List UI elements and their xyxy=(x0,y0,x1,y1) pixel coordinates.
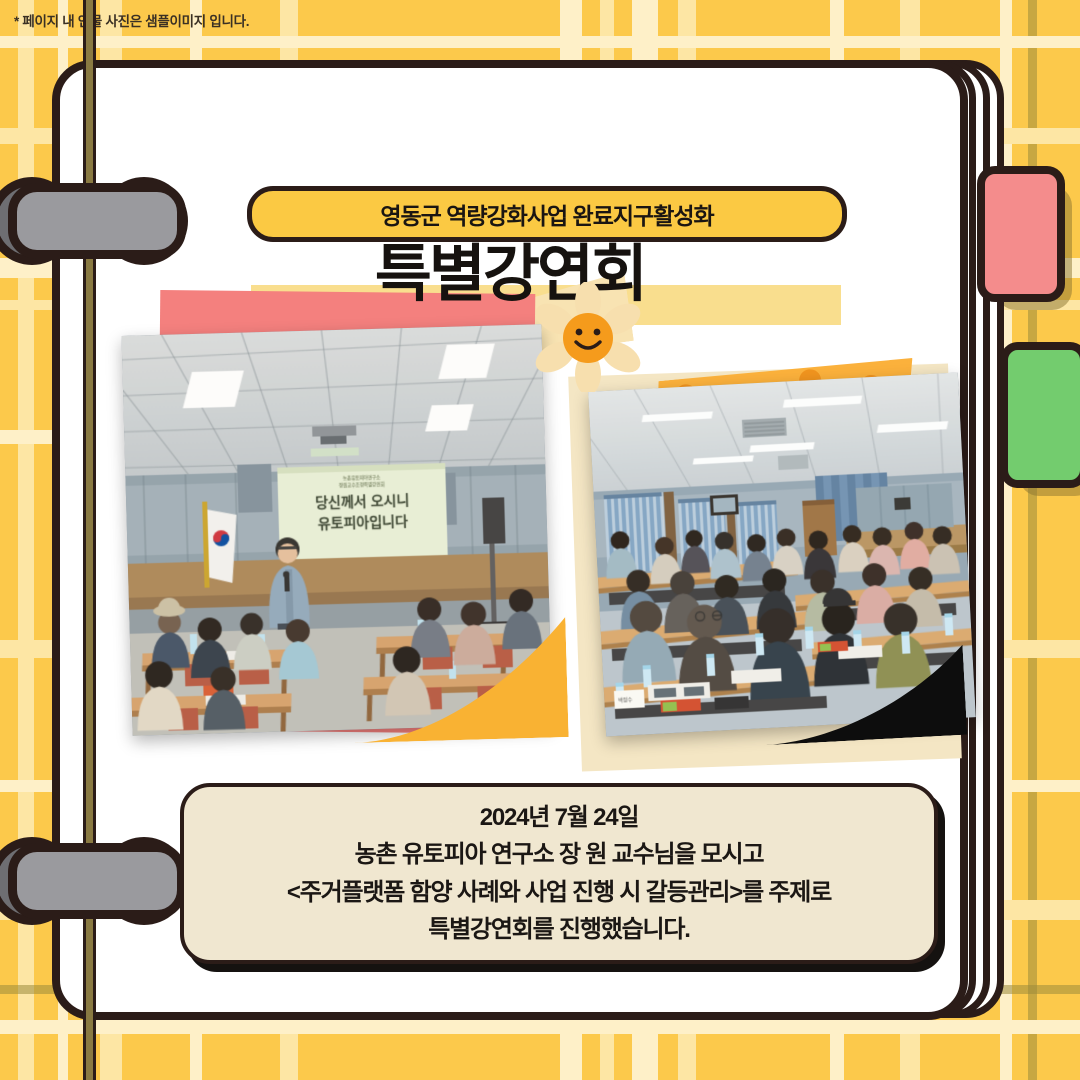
smiley-flower-icon xyxy=(533,282,643,392)
plaid-hstripe xyxy=(0,1020,1080,1034)
caption-line-4: 특별강연회를 진행했습니다. xyxy=(428,911,690,948)
audience-photo[interactable] xyxy=(588,373,976,737)
binder-ring-top xyxy=(8,183,168,241)
caption-line-2: 농촌 유토피아 연구소 장 원 교수님을 모시고 xyxy=(355,836,764,873)
program-badge: 영동군 역량강화사업 완료지구활성화 xyxy=(247,186,847,242)
caption-line-3: <주거플랫폼 함양 사례와 사업 진행 시 갈등관리>를 주제로 xyxy=(287,874,831,911)
program-badge-label: 영동군 역량강화사업 완료지구활성화 xyxy=(380,197,713,231)
tab-pink[interactable] xyxy=(977,166,1065,302)
caption-line-1: 2024년 7월 24일 xyxy=(480,799,639,836)
page-title: 특별강연회 xyxy=(60,244,960,306)
binder-ring-inner xyxy=(20,195,156,229)
binder-ring-inner xyxy=(20,855,156,889)
plaid-hstripe xyxy=(0,36,1080,48)
tab-green[interactable] xyxy=(1000,342,1080,488)
binder-ring-bottom xyxy=(8,843,168,901)
lecture-speaker-photo[interactable] xyxy=(121,324,552,736)
caption-box: 2024년 7월 24일 농촌 유토피아 연구소 장 원 교수님을 모시고 <주… xyxy=(180,783,938,964)
sample-image-notice: * 페이지 내 인물 사진은 샘플이미지 입니다. xyxy=(14,10,249,30)
